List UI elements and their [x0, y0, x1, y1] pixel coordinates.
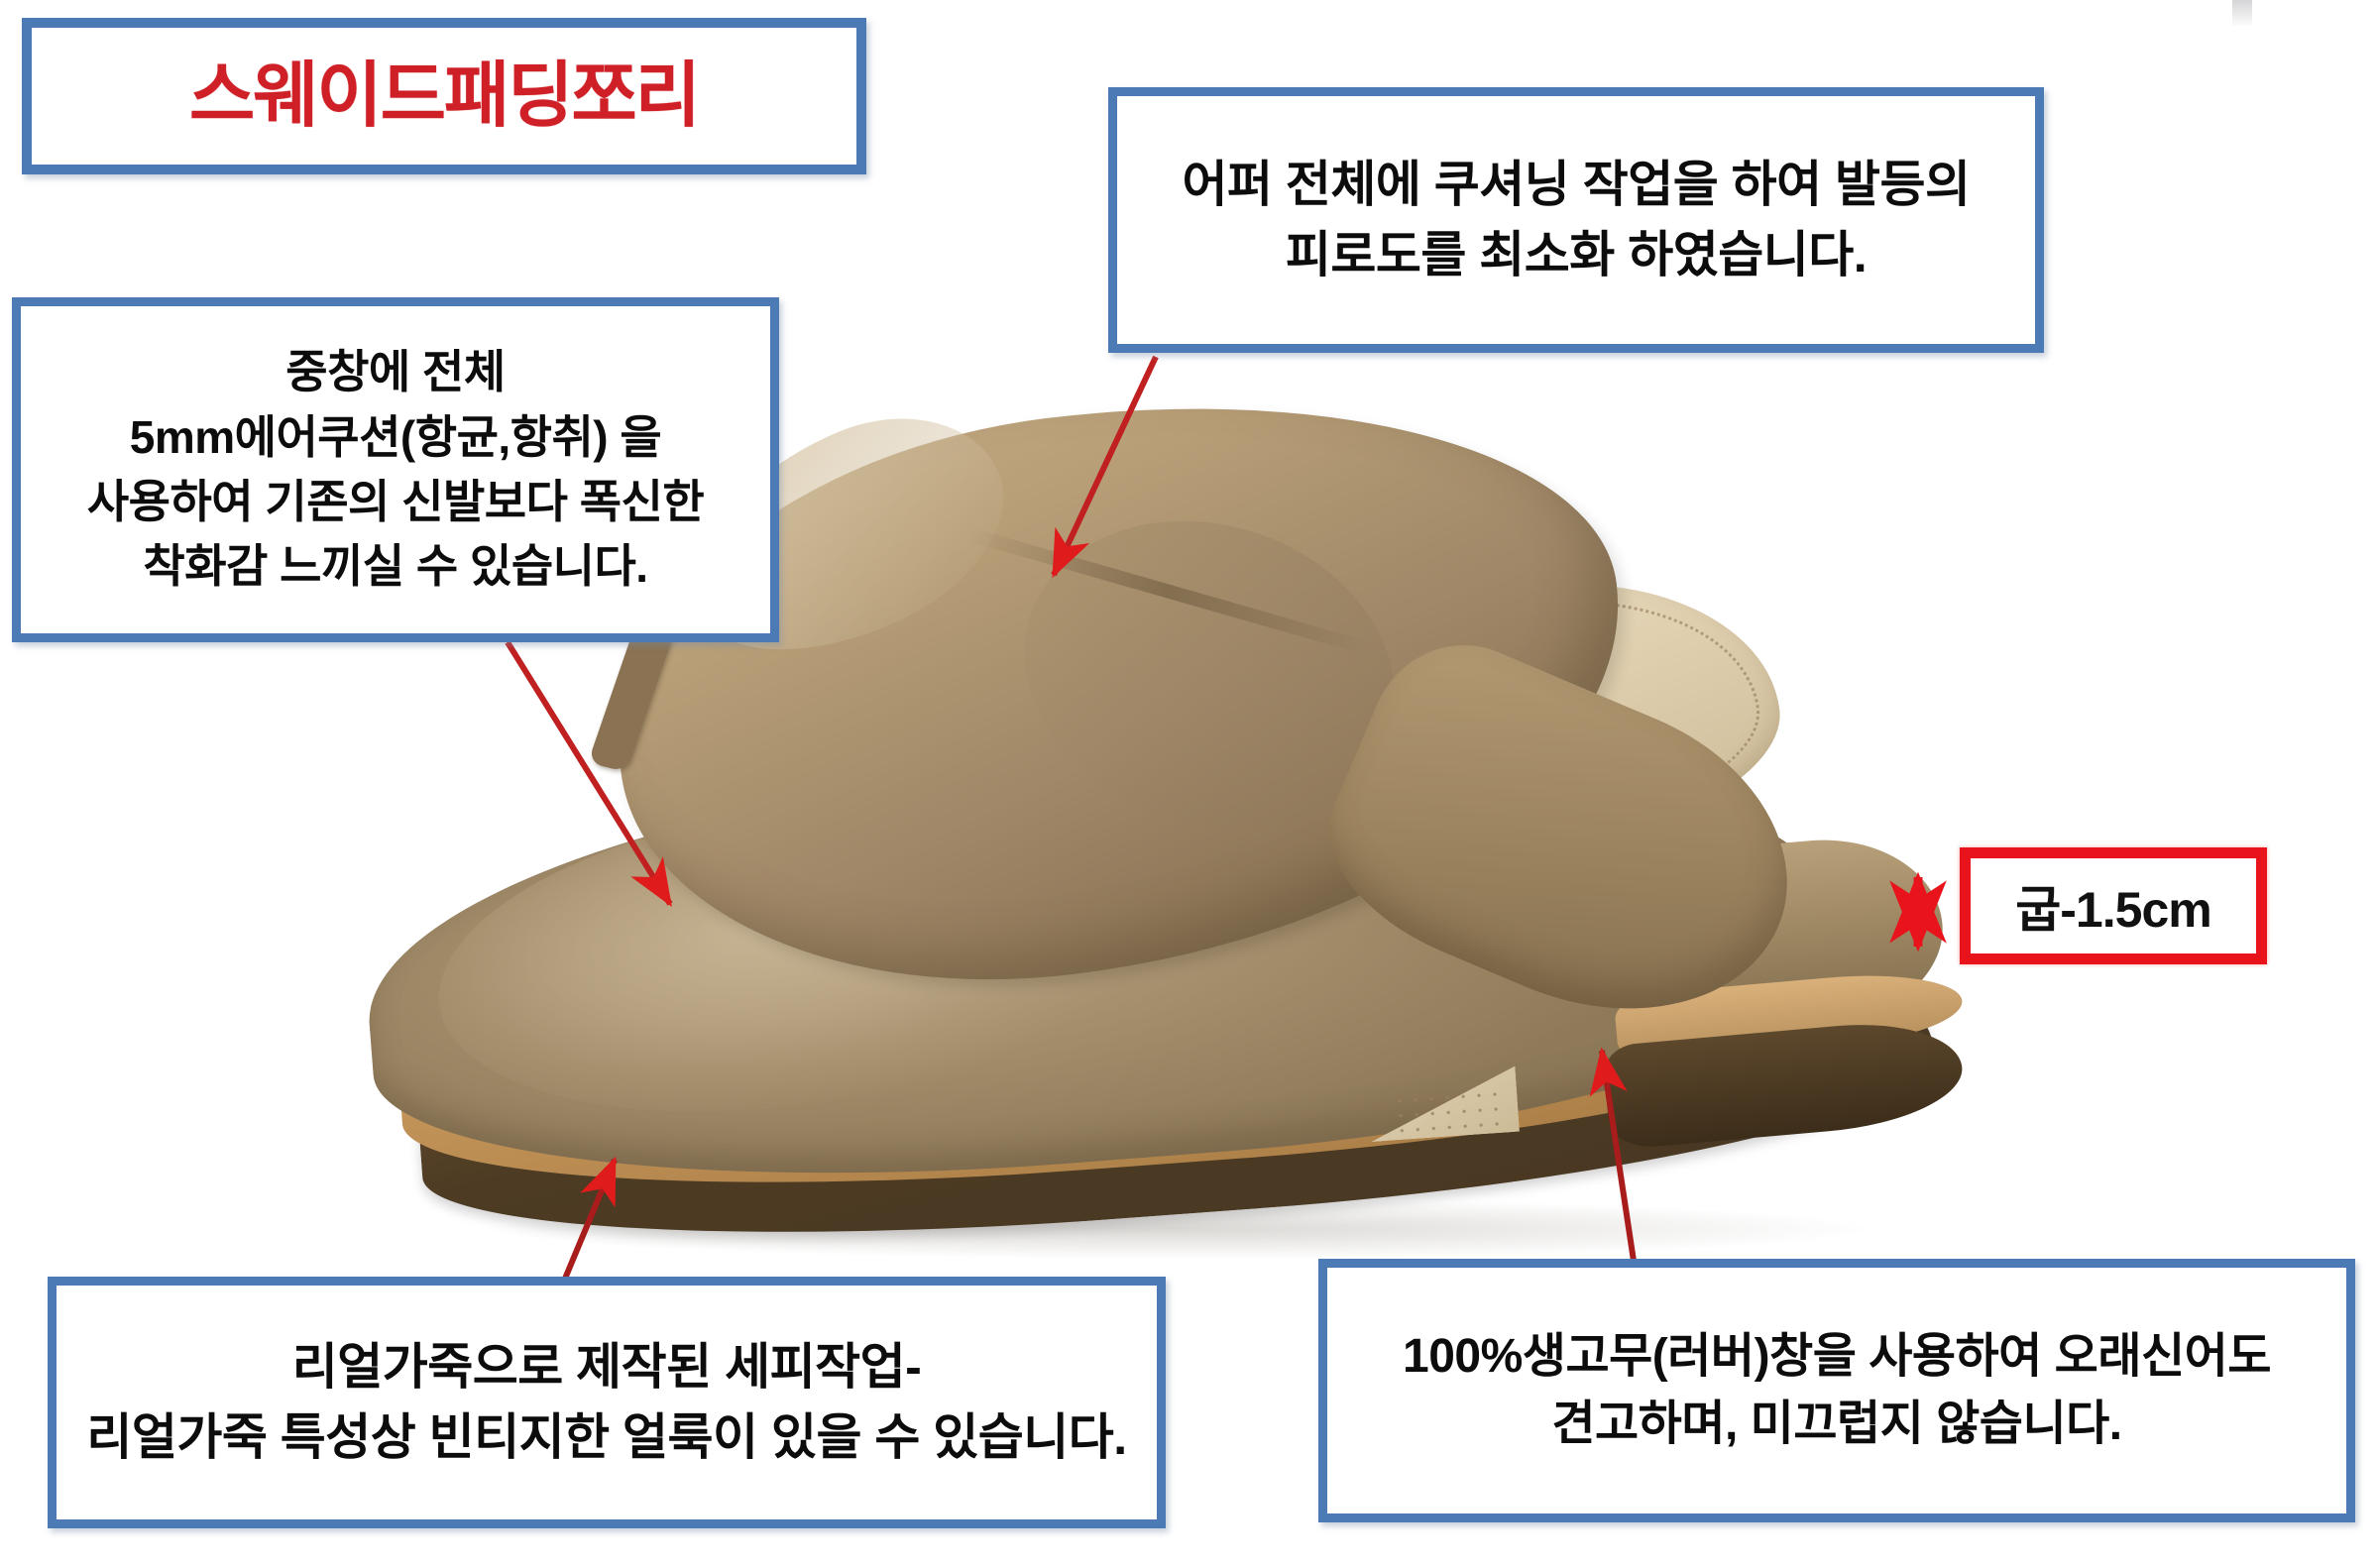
callout-line: 어퍼 전체에 쿠셔닝 작업을 하여 발등의: [1183, 150, 1971, 220]
infographic-canvas: HELDER: [0, 0, 2379, 1568]
rubber-outsole-callout: 100%생고무(러버)창을 사용하여 오래신어도 견고하며, 미끄럽지 않습니다…: [1318, 1259, 2355, 1522]
callout-line: 100%생고무(러버)창을 사용하여 오래신어도: [1403, 1323, 2271, 1391]
real-leather-callout: 리얼가죽으로 제작된 세피작업- 리얼가죽 특성상 빈티지한 얼룩이 있을 수 …: [48, 1277, 1166, 1528]
page-title: 스웨이드패딩쪼리: [189, 46, 699, 147]
scan-artifact: [2232, 0, 2252, 26]
callout-line: 리얼가죽으로 제작된 세피작업-: [292, 1332, 921, 1402]
callout-line: 사용하여 기존의 신발보다 폭신한: [87, 470, 704, 534]
heel-height-badge: 굽-1.5cm: [1960, 847, 2267, 964]
suede-tag-perforations: [1392, 1086, 1504, 1134]
callout-line: 5mm에어쿠션(항균,항취) 을: [130, 405, 661, 470]
callout-line: 리얼가죽 특성상 빈티지한 얼룩이 있을 수 있습니다.: [86, 1402, 1126, 1473]
heel-height-label: 굽-1.5cm: [2015, 870, 2210, 942]
midsole-aircushion-callout: 중창에 전체 5mm에어쿠션(항균,항취) 을 사용하여 기존의 신발보다 폭신…: [12, 297, 779, 642]
callout-line: 중창에 전체: [285, 340, 505, 404]
product-title-box: 스웨이드패딩쪼리: [22, 18, 866, 174]
callout-line: 착화감 느끼실 수 있습니다.: [143, 534, 647, 599]
upper-cushioning-callout: 어퍼 전체에 쿠셔닝 작업을 하여 발등의 피로도를 최소화 하였습니다.: [1108, 87, 2044, 353]
callout-line: 피로도를 최소화 하였습니다.: [1286, 220, 1867, 290]
callout-line: 견고하며, 미끄럽지 않습니다.: [1551, 1391, 2121, 1458]
